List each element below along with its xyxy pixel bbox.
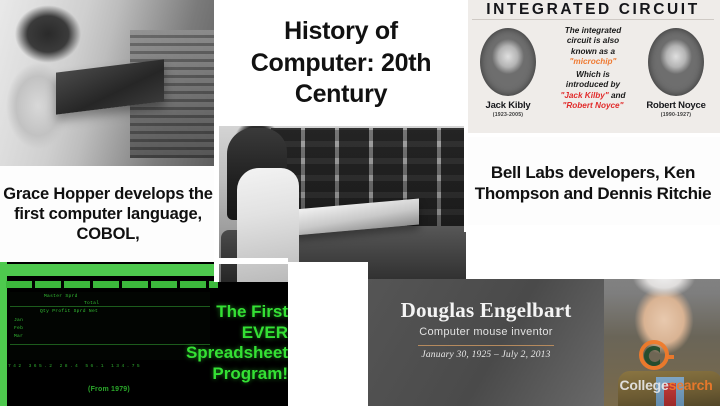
seam-belllabs-bottom — [466, 225, 720, 231]
page-title-line1: History of — [216, 16, 466, 48]
seam-vertical-left — [214, 0, 219, 282]
ic-kilby-highlight: "Jack Kilby" — [560, 91, 608, 100]
grace-hopper-panel: Grace Hopper develops the first computer… — [0, 0, 216, 266]
bell-labs-caption: Bell Labs developers, Ken Thompson and D… — [466, 137, 720, 229]
page-title: History of Computer: 20th Century — [216, 16, 466, 111]
ic-def-line1: The integrated — [538, 26, 648, 36]
ic-inv-line1: Which is — [538, 70, 648, 80]
title-panel: History of Computer: 20th Century — [216, 0, 466, 126]
seam-bottom-gap — [288, 262, 368, 406]
ic-and-word: and — [611, 91, 626, 100]
spreadsheet-menu-bar — [0, 264, 218, 276]
engelbart-name: Douglas Engelbart — [376, 298, 596, 323]
engelbart-subtitle: Computer mouse inventor — [376, 326, 596, 338]
engelbart-divider — [418, 345, 554, 346]
spreadsheet-headline-line2: EVER — [120, 323, 288, 344]
spreadsheet-headline-line1: The First — [120, 302, 288, 323]
collage-image: Grace Hopper develops the first computer… — [0, 0, 720, 406]
spreadsheet-cell: Master Sprd — [44, 294, 78, 299]
spreadsheet-cell: Jan — [14, 318, 23, 323]
grace-hopper-photo — [0, 0, 216, 166]
robert-noyce-dates: (1990-1927) — [634, 112, 718, 118]
integrated-circuit-inventors-note: Which is introduced by "Jack Kilby" and … — [538, 70, 648, 111]
grace-hopper-caption: Grace Hopper develops the first computer… — [0, 166, 216, 262]
spreadsheet-year-caption: (From 1979) — [0, 386, 218, 393]
spreadsheet-cell: Qty Profit Sprd Net — [40, 309, 98, 314]
seam-horizontal-ic — [466, 133, 720, 137]
page-title-line2: Computer: 20th — [216, 48, 466, 80]
ic-def-line3: known as a — [538, 47, 648, 57]
integrated-circuit-title: INTEGRATED CIRCUIT — [466, 1, 720, 19]
ic-noyce-highlight: "Robert Noyce" — [538, 101, 648, 111]
ic-microchip-highlight: "microchip" — [538, 57, 648, 67]
engelbart-panel: Douglas Engelbart Computer mouse invento… — [368, 279, 720, 406]
spreadsheet-panel: Master Sprd Total Qty Profit Sprd Net Ja… — [0, 262, 290, 406]
jack-kilby-dates: (1923-2005) — [466, 112, 550, 118]
page-title-line3: Century — [216, 79, 466, 111]
robert-noyce-portrait — [648, 28, 704, 96]
spreadsheet-cell: Total — [84, 301, 99, 306]
integrated-circuit-divider — [472, 19, 714, 20]
seam-visicalc-top — [216, 258, 288, 264]
spreadsheet-cell: Mar — [14, 334, 23, 339]
engelbart-tie — [664, 383, 676, 406]
integrated-circuit-panel: INTEGRATED CIRCUIT Jack Kibly (1923-2005… — [466, 0, 720, 135]
spreadsheet-headline-line3: Spreadsheet Program! — [120, 343, 288, 384]
ic-def-line2: circuit is also — [538, 36, 648, 46]
spreadsheet-column-headers — [6, 281, 218, 288]
spreadsheet-cell: Feb — [14, 326, 23, 331]
ic-inv-line2: introduced by — [538, 80, 648, 90]
integrated-circuit-definition: The integrated circuit is also known as … — [538, 26, 648, 67]
engelbart-dates: January 30, 1925 – July 2, 2013 — [376, 350, 596, 360]
seam-vertical-right — [464, 0, 468, 232]
jack-kilby-portrait — [480, 28, 536, 96]
spreadsheet-headline: The First EVER Spreadsheet Program! — [120, 302, 288, 385]
